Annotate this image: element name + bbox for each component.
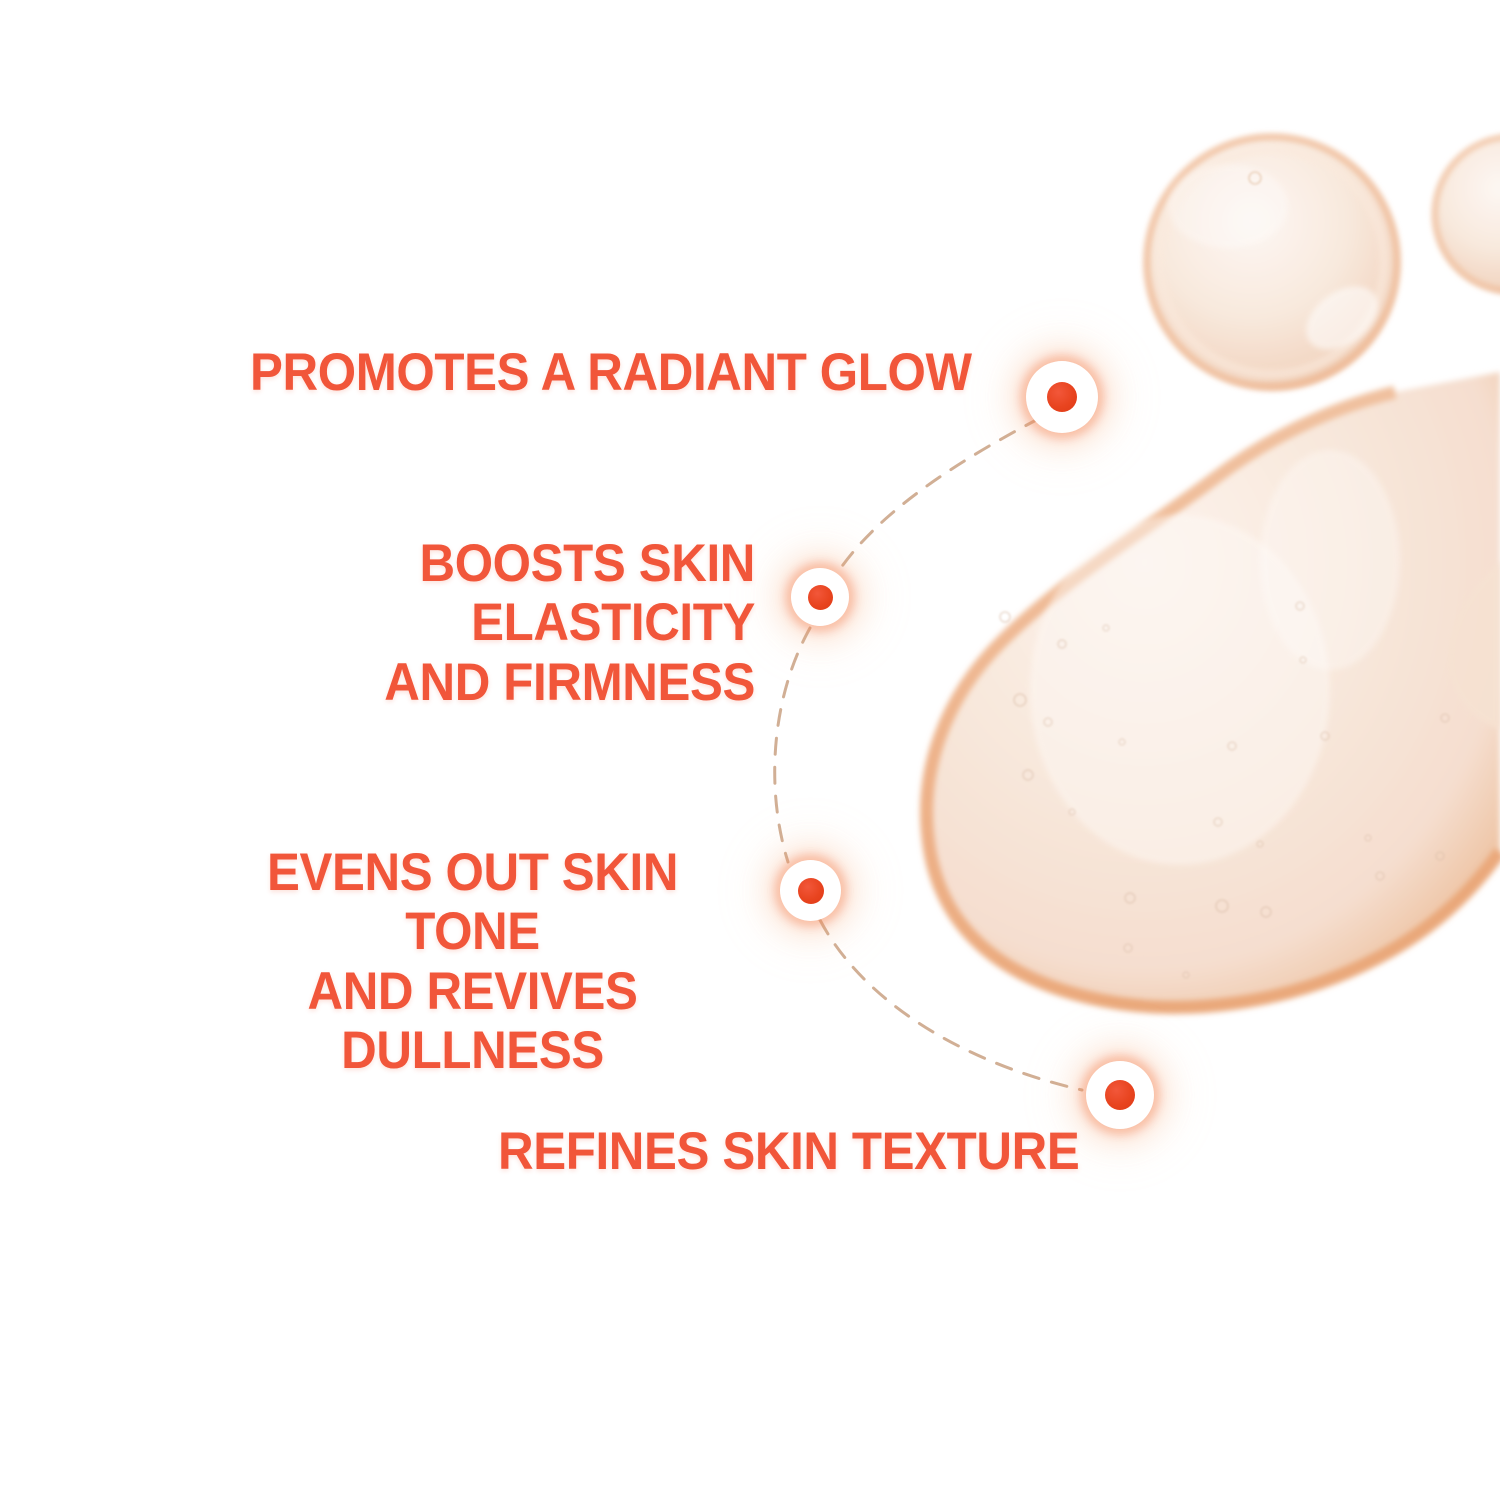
dashed-connector-path — [0, 0, 1500, 1500]
benefit-marker-elasticity-firmness[interactable] — [791, 568, 849, 626]
marker-dot-icon — [798, 878, 824, 904]
benefit-marker-even-skin-tone[interactable] — [780, 860, 841, 921]
marker-dot-icon — [1105, 1080, 1135, 1110]
marker-dot-icon — [1047, 382, 1077, 412]
benefit-marker-refines-texture[interactable] — [1086, 1061, 1154, 1129]
benefit-label-elasticity-firmness: BOOSTS SKIN ELASTICITY AND FIRMNESS — [183, 534, 755, 712]
benefit-label-even-skin-tone: EVENS OUT SKIN TONE AND REVIVES DULLNESS — [214, 843, 730, 1080]
marker-dot-icon — [808, 585, 833, 610]
benefit-label-refines-texture: REFINES SKIN TEXTURE — [498, 1122, 1079, 1181]
infographic-canvas: PROMOTES A RADIANT GLOW BOOSTS SKIN ELAS… — [0, 0, 1500, 1500]
benefit-marker-radiant-glow[interactable] — [1026, 361, 1098, 433]
benefit-label-radiant-glow: PROMOTES A RADIANT GLOW — [250, 343, 972, 402]
